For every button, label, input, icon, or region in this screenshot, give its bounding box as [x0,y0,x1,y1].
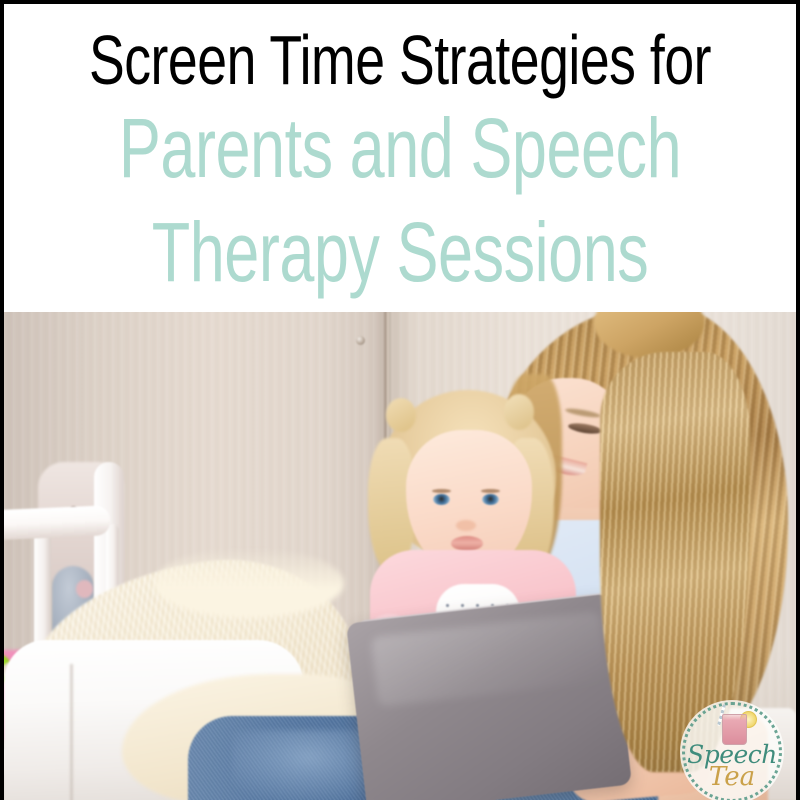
pinterest-graphic: Screen Time Strategies for Parents and S… [0,0,800,800]
hero-photo [4,312,796,800]
logo-brand-line-2: Tea [680,764,784,790]
brand-logo: Speech Tea [680,700,784,800]
child-eyelash-left [432,489,451,493]
title-line-accent-2: Therapy Sessions [28,211,772,294]
sheepskin-wisp [154,548,344,618]
child-eyelash-right [481,489,500,493]
child-pigtail-right [504,394,534,430]
title-block: Screen Time Strategies for Parents and S… [4,4,796,312]
wardrobe-knob [356,336,365,345]
title-line-primary: Screen Time Strategies for [28,28,772,96]
plush-toy-ear [76,580,93,598]
child-pigtail-left [386,398,416,432]
child-nose [456,520,476,531]
child-eye-right [482,494,499,505]
title-line-accent-1: Parents and Speech [28,107,772,190]
child-eye-left [433,494,450,505]
sofa-arm-seam [70,664,73,800]
child-mouth [451,536,483,551]
crib-top-rail [4,505,111,541]
